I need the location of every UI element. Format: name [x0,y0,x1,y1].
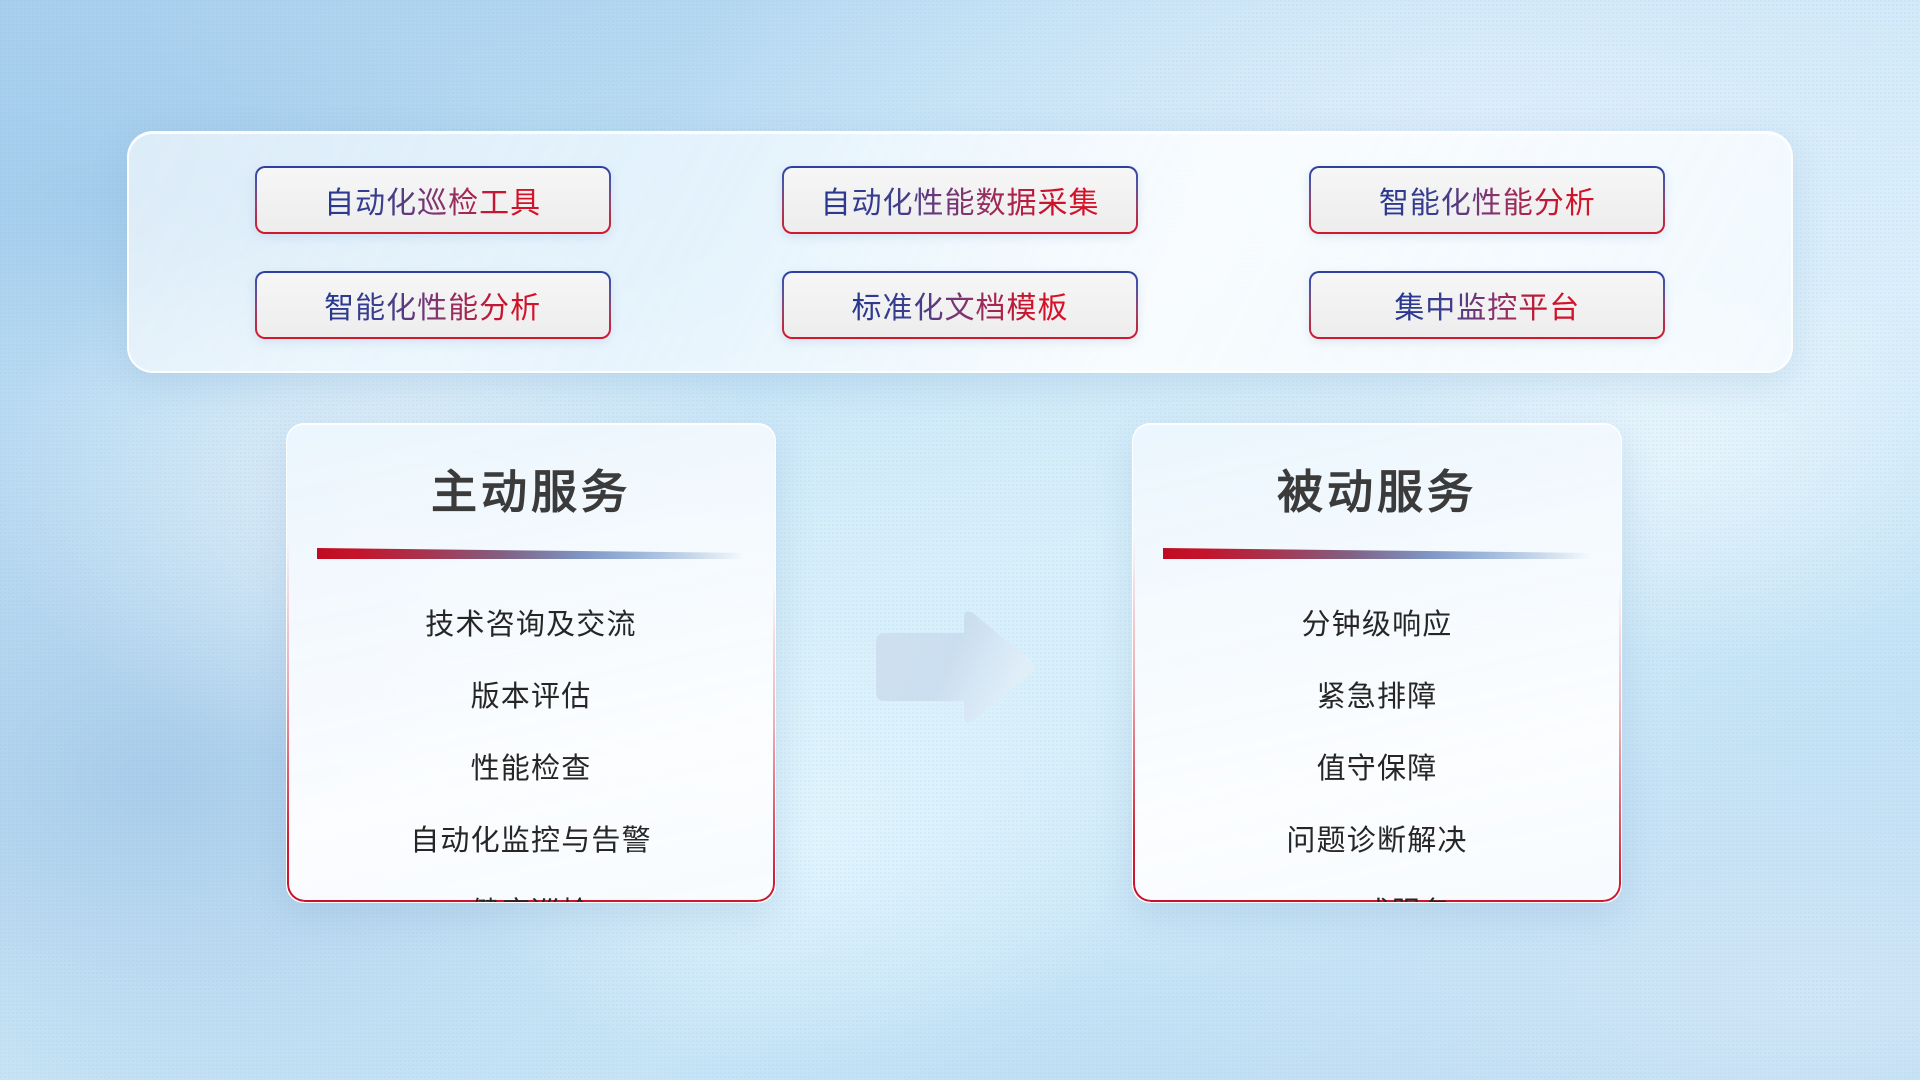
capability-chip-4-surface: 智能化性能分析 [257,273,609,337]
list-item: 分钟级响应 [1301,589,1452,661]
active-service-list: 技术咨询及交流 版本评估 性能检查 自动化监控与告警 健康巡检 [287,589,775,903]
capability-chip-2[interactable]: 自动化性能数据采集 [782,166,1138,234]
capability-chip-3-surface: 智能化性能分析 [1311,168,1663,232]
arrow-right-icon: 主动服务 至 被动服务 [868,608,1038,726]
capability-chip-4-label: 智能化性能分析 [324,283,541,327]
capability-chip-2-label: 自动化性能数据采集 [820,178,1099,222]
capability-chip-1-label: 自动化巡检工具 [324,178,541,222]
capability-chips-panel: 自动化巡检工具 自动化性能数据采集 智能化性能分析 智能化性能分析 标准化文档模… [127,131,1793,373]
list-item: 值守保障 [1317,733,1438,805]
capability-chip-grid: 自动化巡检工具 自动化性能数据采集 智能化性能分析 智能化性能分析 标准化文档模… [129,133,1791,371]
list-item: 问题诊断解决 [1286,805,1467,877]
active-title-divider [317,548,745,559]
capability-chip-5[interactable]: 标准化文档模板 [782,271,1138,339]
capability-chip-1[interactable]: 自动化巡检工具 [255,166,611,234]
active-service-title: 主动服务 [287,456,775,522]
capability-chip-4[interactable]: 智能化性能分析 [255,271,611,339]
capability-chip-3-label: 智能化性能分析 [1379,178,1596,222]
passive-service-title: 被动服务 [1133,456,1621,522]
list-item: 自动化监控与告警 [410,805,652,877]
capability-chip-1-surface: 自动化巡检工具 [257,168,609,232]
capability-chip-6[interactable]: 集中监控平台 [1309,271,1665,339]
capability-chip-2-surface: 自动化性能数据采集 [784,168,1136,232]
list-item: 紧急排障 [1317,661,1438,733]
capability-chip-6-surface: 集中监控平台 [1311,273,1663,337]
capability-chip-5-label: 标准化文档模板 [851,283,1068,327]
active-service-card: 主动服务 技术咨询及交流 版本评估 性能检查 自动化监控与告警 健康巡检 [286,423,776,903]
list-item: 健康巡检 [471,877,592,903]
capability-chip-3[interactable]: 智能化性能分析 [1309,166,1665,234]
list-item: 技术咨询及交流 [425,589,636,661]
list-item: SLA式服务 [1302,877,1451,903]
passive-service-list: 分钟级响应 紧急排障 值守保障 问题诊断解决 SLA式服务 [1133,589,1621,903]
capability-chip-5-surface: 标准化文档模板 [784,273,1136,337]
passive-service-card: 被动服务 分钟级响应 紧急排障 值守保障 问题诊断解决 SLA式服务 [1132,423,1622,903]
list-item: 版本评估 [471,661,592,733]
capability-chip-6-label: 集中监控平台 [1394,283,1580,327]
passive-title-divider [1163,548,1591,559]
list-item: 性能检查 [471,733,592,805]
